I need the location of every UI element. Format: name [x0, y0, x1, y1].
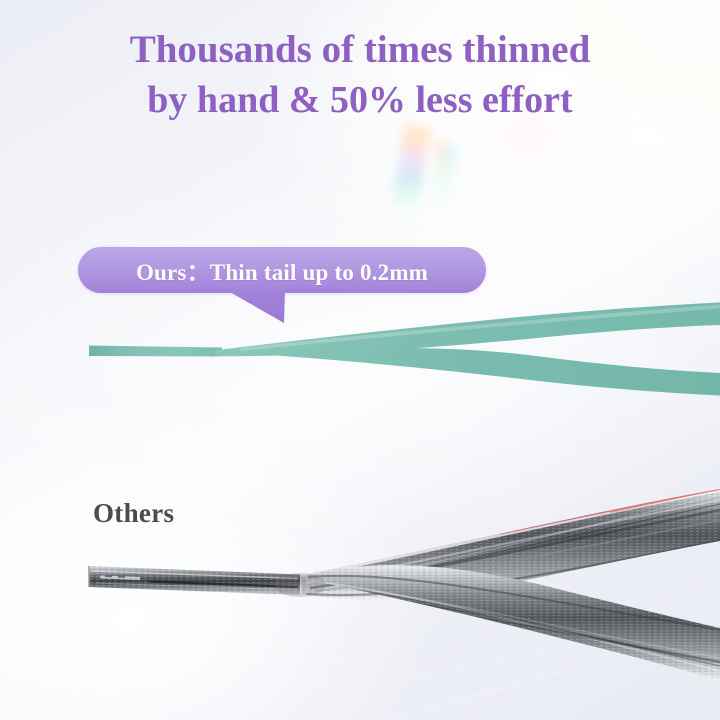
headline: Thousands of times thinned by hand & 50%…: [0, 24, 720, 126]
headline-line-2: by hand & 50% less effort: [0, 75, 720, 126]
ours-callout-label: Ours：Thin tail up to 0.2mm: [136, 253, 428, 287]
headline-line-1: Thousands of times thinned: [0, 24, 720, 75]
triangle-pointer-icon: [228, 291, 288, 325]
ours-callout-bubble[interactable]: Ours：Thin tail up to 0.2mm: [78, 247, 486, 293]
ours-callout[interactable]: Ours：Thin tail up to 0.2mm: [78, 247, 486, 293]
others-label: Others: [93, 498, 174, 529]
product-comparison-graphic: Thousands of times thinned by hand & 50%…: [0, 0, 720, 720]
